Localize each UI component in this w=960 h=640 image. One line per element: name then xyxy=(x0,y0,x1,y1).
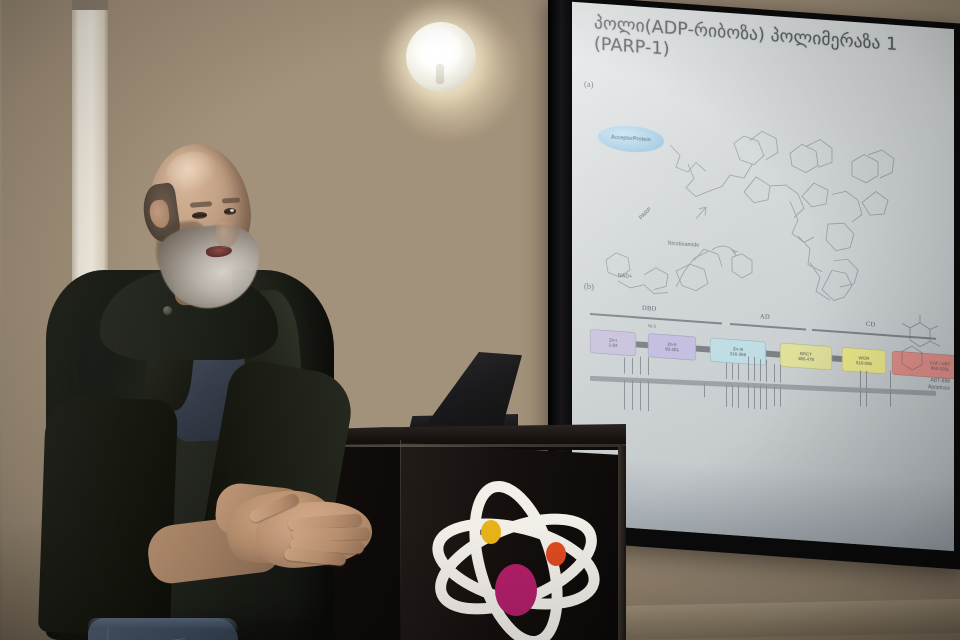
panel-a-figure: Acceptor Protein xyxy=(584,95,946,319)
domain-box-zn3: Zn-III 216-366 xyxy=(710,338,766,366)
domain-box-zn1: Zn-I 1-92 xyxy=(590,329,636,356)
par-chain-structure-icon xyxy=(584,95,946,319)
podium-right-edge xyxy=(618,446,626,640)
domain-box-brct: BRCT 385-478 xyxy=(780,343,832,371)
presentation-photo-scene: პოლი(ADP-რიბოზა) პოლიმერაზა 1 (PARP-1) (… xyxy=(0,0,960,640)
atom-electron-orange xyxy=(546,542,566,566)
speaker xyxy=(40,130,370,640)
domain-track: Zn-I 1-92 Zn-II 93-201 Zn-III 216-366 xyxy=(590,329,936,378)
atom-nucleus xyxy=(495,564,537,616)
projection-screen: პოლი(ADP-რიბოზა) პოლიმერაზა 1 (PARP-1) (… xyxy=(570,2,954,552)
panel-b-tag: (b) xyxy=(584,281,594,292)
speaker-eye-highlight xyxy=(230,209,234,212)
speaker-eyebrow-right xyxy=(222,198,240,204)
domain-sub-label-nls: NLS xyxy=(648,323,656,329)
domain-group-bar-dbd xyxy=(590,313,722,324)
domain-box-zn3-line2: 216-366 xyxy=(730,351,746,358)
domain-box-zn2-line2: 93-201 xyxy=(665,346,679,352)
atom-electron-yellow xyxy=(481,520,501,544)
domain-group-bar-ad xyxy=(730,323,806,330)
domain-box-zn1-line2: 1-92 xyxy=(609,342,618,348)
wall-pillar-cap xyxy=(72,0,108,10)
domain-group-label-cd: CD xyxy=(866,321,876,329)
speaker-jeans-waistband xyxy=(88,618,238,630)
panel-a-tag: (a) xyxy=(584,79,593,90)
residue-axis-bar xyxy=(590,376,936,396)
slide-title: პოლი(ADP-რიბოზა) პოლიმერაზა 1 (PARP-1) xyxy=(594,13,940,80)
lamp-stem xyxy=(436,64,444,84)
podium-seam xyxy=(400,440,401,640)
nad-label: NAD+ xyxy=(618,273,632,280)
domain-box-wgr: WGR 518-656 xyxy=(842,347,886,374)
slide-content: პოლი(ADP-რიბოზა) პოლიმერაზა 1 (PARP-1) (… xyxy=(570,2,954,552)
jacket-snap-button xyxy=(163,306,172,315)
domain-box-wgr-line2: 518-656 xyxy=(856,360,872,367)
domain-box-brct-line2: 385-478 xyxy=(798,356,814,363)
atom-logo xyxy=(425,472,607,640)
parp-inhibitor-structure-icon xyxy=(888,308,952,377)
jacket-sleeve-left xyxy=(38,396,178,636)
domain-box-zn2: Zn-II 93-201 xyxy=(648,333,696,360)
domain-group-label-dbd: DBD xyxy=(642,305,657,313)
domain-group-label-ad: AD xyxy=(760,313,770,321)
